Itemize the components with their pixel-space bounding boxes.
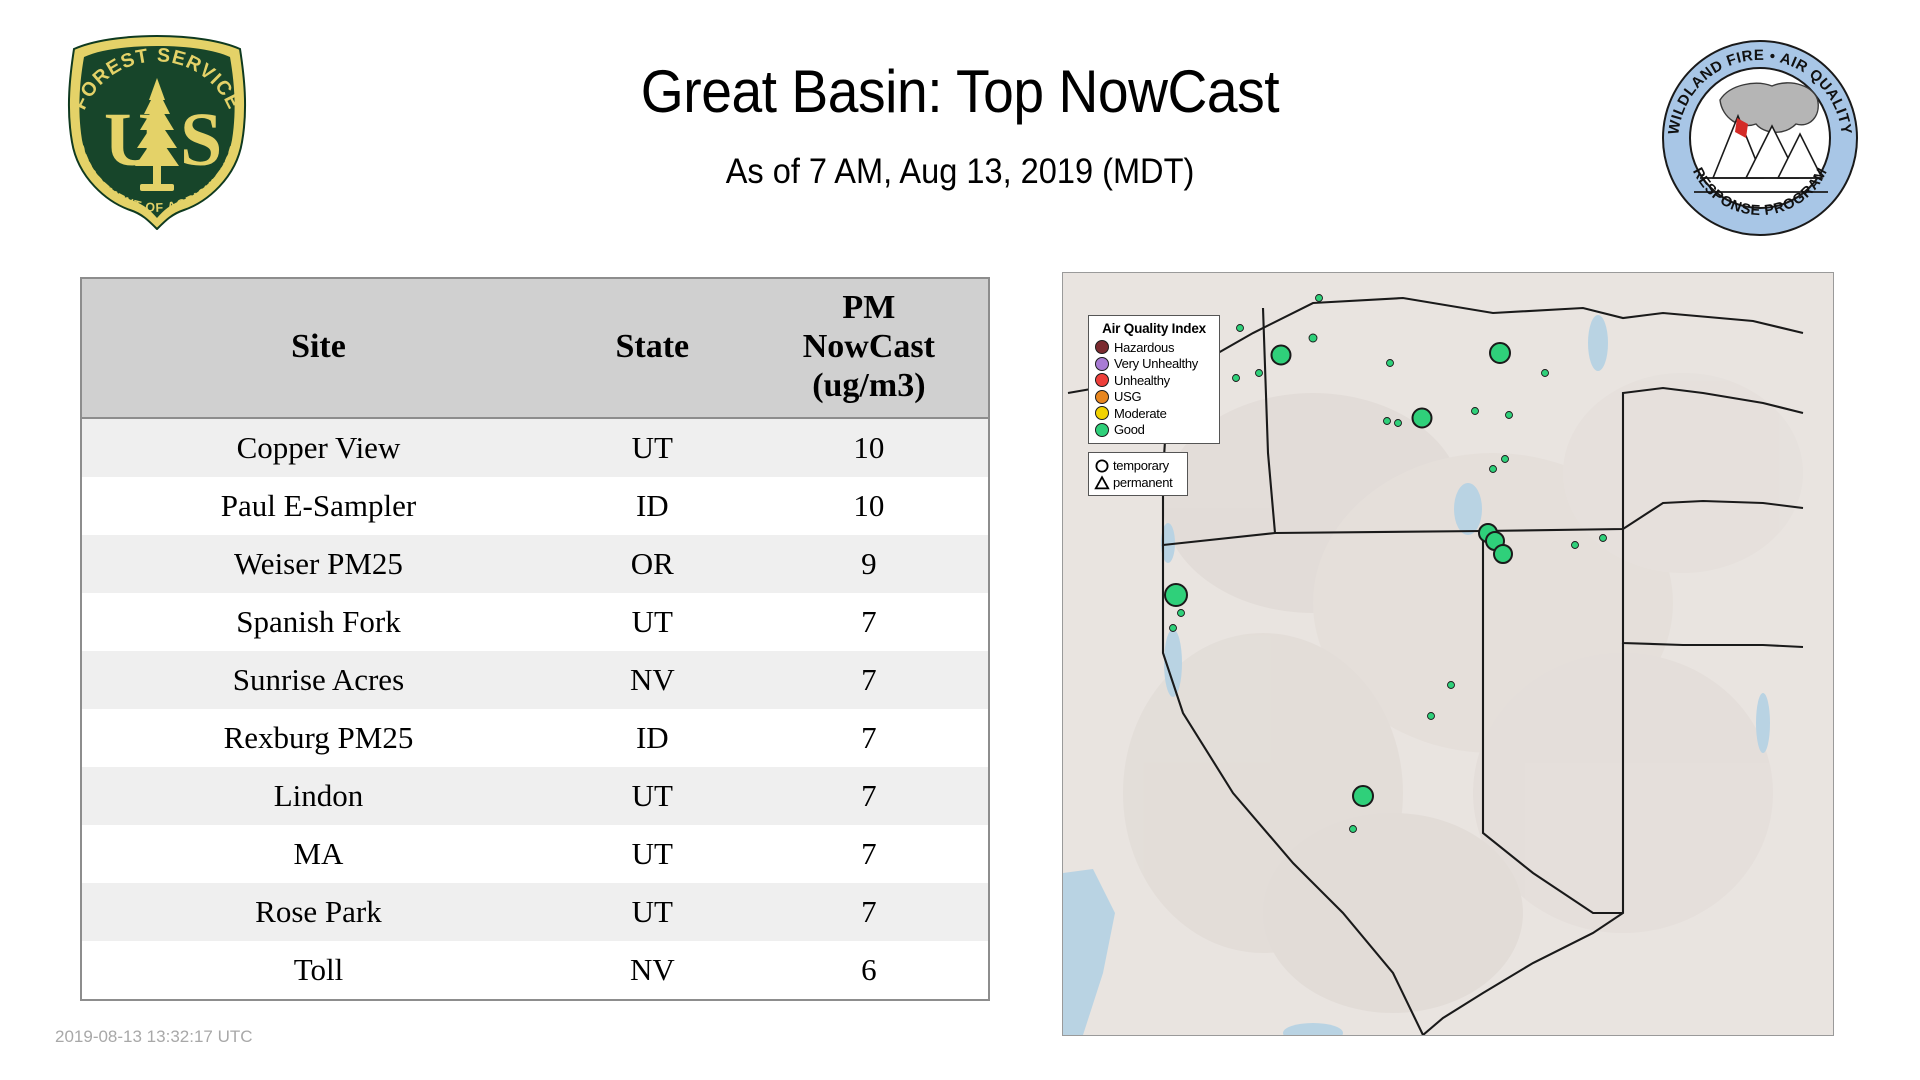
monitor-marker[interactable] (1600, 535, 1607, 542)
monitor-marker[interactable] (1353, 786, 1373, 806)
column-header-site: Site (82, 279, 555, 418)
site-cell: Copper View (82, 418, 555, 477)
site-cell: Rose Park (82, 883, 555, 941)
legend-label: Unhealthy (1114, 373, 1170, 388)
monitor-marker[interactable] (1170, 625, 1177, 632)
legend-label-permanent: permanent (1113, 475, 1172, 490)
usda-forest-service-shield-logo: FOREST SERVICE DEPARTMENT OF AGRICULTURE… (52, 30, 262, 230)
legend-title: Air Quality Index (1095, 321, 1213, 336)
monitor-marker[interactable] (1272, 346, 1291, 365)
site-cell: Lindon (82, 767, 555, 825)
legend-row-good: Good (1095, 422, 1213, 439)
table-row: Sunrise AcresNV7 (82, 651, 988, 709)
legend-label: USG (1114, 389, 1141, 404)
site-cell: Rexburg PM25 (82, 709, 555, 767)
table-row: Spanish ForkUT7 (82, 593, 988, 651)
legend-row-hazardous: Hazardous (1095, 339, 1213, 356)
monitor-marker[interactable] (1542, 370, 1549, 377)
top-nowcast-table: Site State PM NowCast (ug/m3) Copper Vie… (80, 277, 990, 1001)
site-cell: Toll (82, 941, 555, 999)
monitor-marker[interactable] (1350, 826, 1357, 833)
monitor-marker[interactable] (1384, 418, 1391, 425)
monitor-marker[interactable] (1572, 542, 1579, 549)
value-cell: 7 (750, 709, 988, 767)
value-cell: 7 (750, 593, 988, 651)
legend-row-permanent: permanent (1094, 474, 1182, 491)
legend-label: Very Unhealthy (1114, 356, 1198, 371)
legend-row-temporary: temporary (1094, 457, 1182, 474)
legend-label: Good (1114, 422, 1145, 437)
monitor-marker[interactable] (1309, 334, 1317, 342)
state-cell: UT (555, 825, 750, 883)
state-cell: UT (555, 883, 750, 941)
table-row: Copper ViewUT10 (82, 418, 988, 477)
legend-color-swatch (1095, 390, 1109, 404)
state-cell: NV (555, 651, 750, 709)
value-cell: 9 (750, 535, 988, 593)
monitor-marker[interactable] (1472, 408, 1479, 415)
column-header-state: State (555, 279, 750, 418)
legend-color-swatch (1095, 373, 1109, 387)
legend-color-swatch (1095, 340, 1109, 354)
monitor-marker[interactable] (1165, 584, 1187, 606)
legend-row-unhealthy: Unhealthy (1095, 372, 1213, 389)
temporary-circle-icon (1094, 458, 1110, 474)
pm-header-line1: PM (842, 289, 895, 326)
fs-logo-letter-s: S (180, 98, 222, 182)
value-cell: 7 (750, 825, 988, 883)
state-cell: UT (555, 593, 750, 651)
pm-header-line3: (ug/m3) (812, 367, 925, 404)
legend-label: Moderate (1114, 406, 1167, 421)
state-cell: ID (555, 477, 750, 535)
table-header-row: Site State PM NowCast (ug/m3) (82, 279, 988, 418)
great-basin-monitor-map[interactable]: Air Quality Index HazardousVery Unhealth… (1062, 272, 1834, 1036)
monitor-marker[interactable] (1178, 610, 1185, 617)
value-cell: 7 (750, 767, 988, 825)
state-cell: NV (555, 941, 750, 999)
state-cell: ID (555, 709, 750, 767)
table-body: Copper ViewUT10Paul E-SamplerID10Weiser … (82, 418, 988, 999)
column-header-pm-nowcast: PM NowCast (ug/m3) (750, 279, 988, 418)
site-cell: MA (82, 825, 555, 883)
permanent-triangle-icon (1094, 475, 1110, 491)
legend-color-swatch (1095, 406, 1109, 420)
monitor-marker[interactable] (1233, 375, 1240, 382)
legend-row-very-unhealthy: Very Unhealthy (1095, 356, 1213, 373)
state-cell: UT (555, 418, 750, 477)
table-row: Paul E-SamplerID10 (82, 477, 988, 535)
monitor-marker[interactable] (1490, 343, 1510, 363)
value-cell: 7 (750, 651, 988, 709)
legend-row-moderate: Moderate (1095, 405, 1213, 422)
table-row: Rexburg PM25ID7 (82, 709, 988, 767)
page-subtitle: As of 7 AM, Aug 13, 2019 (MDT) (346, 152, 1574, 192)
legend-air-quality-index: Air Quality Index HazardousVery Unhealth… (1088, 315, 1220, 444)
site-cell: Paul E-Sampler (82, 477, 555, 535)
value-cell: 6 (750, 941, 988, 999)
legend-monitor-type: temporary permanent (1088, 452, 1188, 496)
state-cell: OR (555, 535, 750, 593)
table-row: LindonUT7 (82, 767, 988, 825)
monitor-marker[interactable] (1237, 325, 1244, 332)
value-cell: 7 (750, 883, 988, 941)
monitor-marker[interactable] (1490, 466, 1497, 473)
state-cell: UT (555, 767, 750, 825)
monitor-marker[interactable] (1428, 713, 1435, 720)
slide-root: FOREST SERVICE DEPARTMENT OF AGRICULTURE… (0, 0, 1920, 1080)
monitor-marker[interactable] (1387, 360, 1394, 367)
legend-label: Hazardous (1114, 340, 1174, 355)
table-row: TollNV6 (82, 941, 988, 999)
site-cell: Spanish Fork (82, 593, 555, 651)
site-cell: Weiser PM25 (82, 535, 555, 593)
wildland-fire-air-quality-response-program-logo: WILDLAND FIRE • AIR QUALITY RESPONSE PRO… (1660, 38, 1860, 238)
value-cell: 10 (750, 418, 988, 477)
table-row: Rose ParkUT7 (82, 883, 988, 941)
page-title: Great Basin: Top NowCast (353, 60, 1567, 123)
table-row: Weiser PM25OR9 (82, 535, 988, 593)
legend-items: HazardousVery UnhealthyUnhealthyUSGModer… (1095, 339, 1213, 438)
monitor-marker[interactable] (1506, 412, 1513, 419)
value-cell: 10 (750, 477, 988, 535)
legend-label-temporary: temporary (1113, 458, 1169, 473)
site-cell: Sunrise Acres (82, 651, 555, 709)
monitor-marker[interactable] (1494, 545, 1512, 563)
monitor-marker[interactable] (1256, 370, 1263, 377)
pm-header-line2: NowCast (803, 328, 935, 365)
monitor-marker[interactable] (1413, 409, 1432, 428)
generation-timestamp: 2019-08-13 13:32:17 UTC (55, 1027, 253, 1047)
legend-color-swatch (1095, 357, 1109, 371)
monitor-marker[interactable] (1502, 456, 1509, 463)
monitor-marker[interactable] (1395, 420, 1402, 427)
legend-row-usg: USG (1095, 389, 1213, 406)
table-row: MAUT7 (82, 825, 988, 883)
legend-color-swatch (1095, 423, 1109, 437)
monitor-marker[interactable] (1448, 682, 1455, 689)
monitor-marker[interactable] (1316, 295, 1323, 302)
